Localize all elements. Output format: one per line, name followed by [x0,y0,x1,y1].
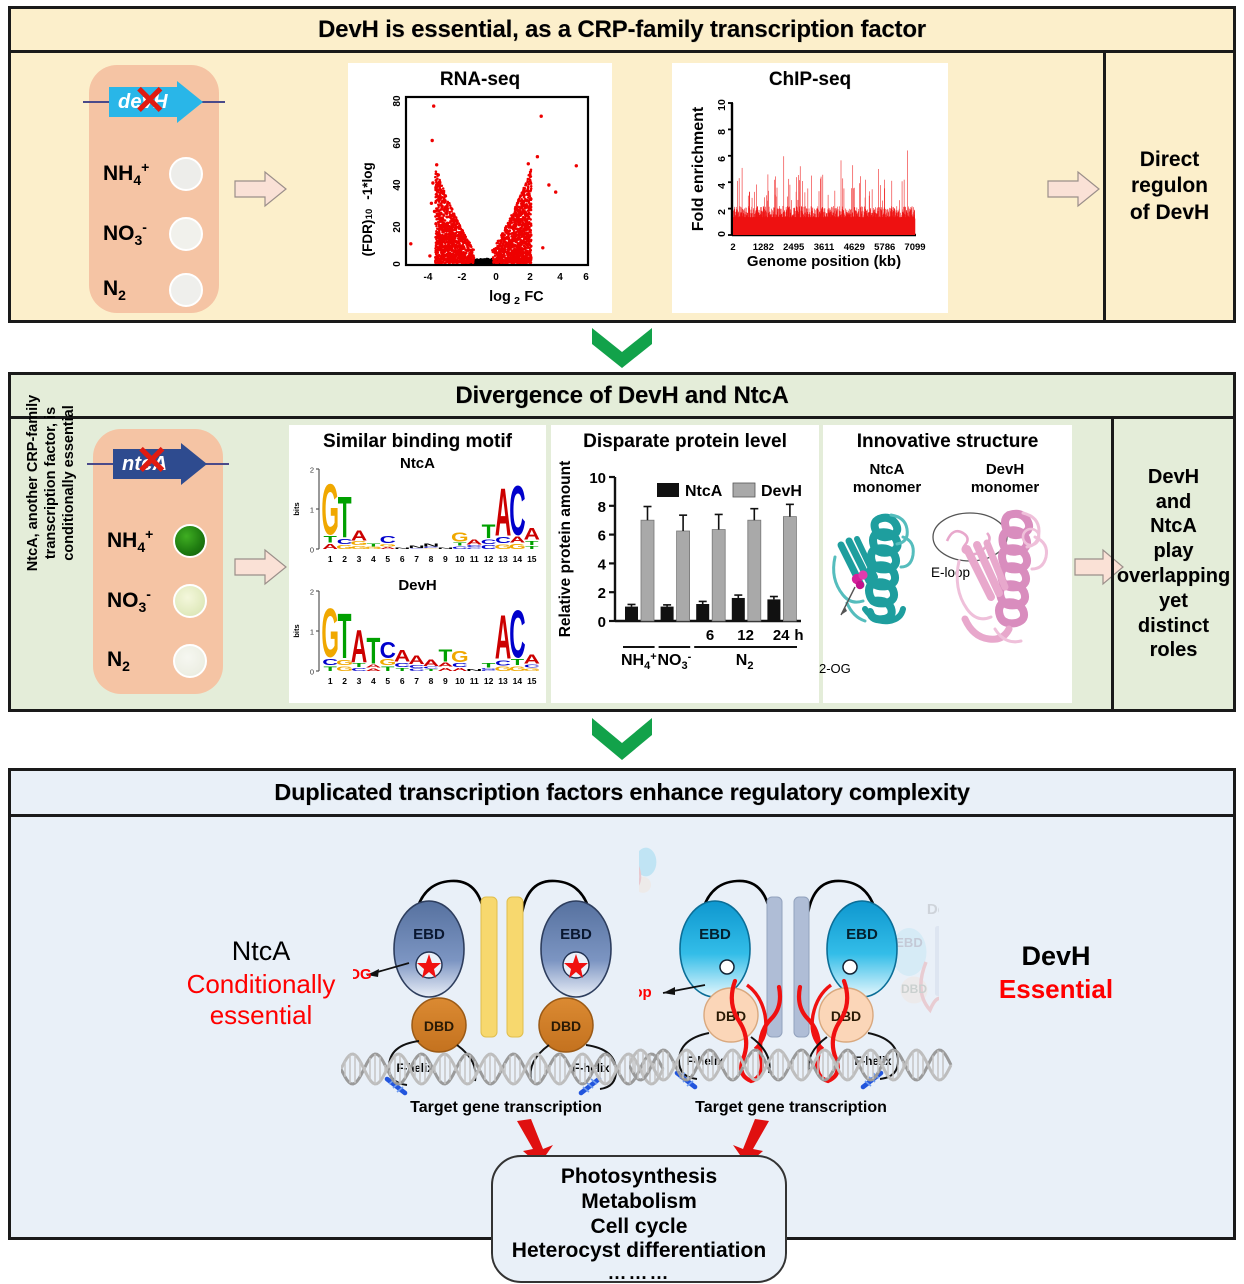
svg-text:2: 2 [342,554,347,564]
svg-text:bits: bits [292,624,301,637]
svg-text:A: A [524,525,540,544]
condition-row-no3: NO3- [107,584,207,618]
svg-text:80: 80 [392,95,403,107]
svg-text:NH4+: NH4+ [621,651,657,672]
svg-text:0: 0 [716,231,728,237]
svg-text:10: 10 [589,470,606,487]
svg-text:T: T [366,542,380,547]
svg-text:1: 1 [310,628,314,637]
svg-text:6: 6 [583,272,589,283]
svg-text:0: 0 [392,261,403,267]
panel-bottom-body: NtcA Conditionally essential DevH Essent… [11,817,1233,1237]
svg-text:12: 12 [484,676,494,686]
sequence-logo-devh: 012bitsTCG1GGT2CTA3AAT4TGC5TCA6CCA7TCA8A… [289,575,546,695]
svg-text:8: 8 [429,554,434,564]
svg-text:2: 2 [730,242,735,253]
card-title-binding-motif: Similar binding motif [289,431,546,453]
svg-text:E-loop: E-loop [639,984,652,1001]
svg-text:log: log [489,289,511,305]
svg-text:2: 2 [310,466,314,475]
svg-text:2: 2 [342,676,347,686]
condition-label-no3: NO3- [107,586,173,615]
svg-text:NtcA: NtcA [685,483,723,500]
condition-row-n2: N2 [103,273,203,307]
svg-text:3611: 3611 [814,242,835,253]
svg-text:6: 6 [400,554,405,564]
svg-text:A: A [524,652,540,667]
svg-text:4: 4 [716,183,728,189]
svg-text:2: 2 [514,295,520,307]
svg-text:10: 10 [455,676,465,686]
page-title: DevH is essential, as a CRP-family trans… [318,16,926,44]
panel-mid-header: Divergence of DevH and NtcA [11,375,1233,419]
svg-text:3: 3 [357,676,362,686]
svg-text:1282: 1282 [753,242,774,253]
colony-spot-nh4 [173,524,207,558]
svg-text:4629: 4629 [844,242,865,253]
svg-text:1: 1 [328,554,333,564]
ligand-label-2og: 2-OG [819,661,851,676]
outcome-item-0: Photosynthesis [561,1165,717,1190]
svg-text:bits: bits [292,502,301,515]
condition-row-no3: NO3- [103,217,203,251]
svg-text:14: 14 [513,554,523,564]
panel-regulatory-complexity: Duplicated transcription factors enhance… [8,768,1236,1240]
svg-text:NO3-: NO3- [658,651,692,672]
flow-arrow-icon-2 [1046,169,1102,209]
svg-text:7099: 7099 [904,242,925,253]
svg-text:9: 9 [443,554,448,564]
svg-text:0: 0 [310,668,314,677]
flow-arrow-icon-1 [233,169,289,209]
svg-text:0: 0 [598,614,606,631]
svg-text:5786: 5786 [874,242,895,253]
svg-text:12: 12 [737,627,754,644]
condition-label-no3: NO3- [103,219,169,248]
devh-status: Essential [951,973,1161,1005]
svg-text:8: 8 [598,499,606,516]
svg-text:7: 7 [414,676,419,686]
svg-text:2495: 2495 [783,242,805,253]
condition-label-n2: N2 [103,277,169,303]
dna-helix-right-icon [629,1039,955,1097]
svg-text:DBD: DBD [901,982,927,996]
svg-text:T: T [482,521,496,542]
condition-label-nh4: NH4+ [107,526,173,555]
card-binding-motif: Similar binding motif NtcA 012bitsATG1GC… [289,425,546,703]
flow-chevron-down-icon-2 [588,716,656,762]
panel-top-header: DevH is essential, as a CRP-family trans… [11,9,1233,53]
ntca-identity-block: NtcA Conditionally essential [161,935,361,1032]
ntca-status: Conditionally essential [161,969,361,1032]
svg-text:10: 10 [364,209,375,220]
colony-spot-no3 [173,584,207,618]
svg-text:14: 14 [513,676,523,686]
colony-spot-n2 [169,273,203,307]
ntca-monomer-structure-icon [825,507,945,667]
svg-text:FC: FC [524,289,544,305]
svg-text:2: 2 [310,588,314,597]
svg-text:(FDR): (FDR) [360,220,375,257]
svg-text:EBD: EBD [846,926,878,943]
condition-label-n2: N2 [107,648,173,674]
devh-monomer-structure-icon [947,501,1071,671]
structure-label-ntca: NtcA monomer [835,461,939,497]
knockout-x-icon: ✕ [135,441,169,481]
mid-title: Divergence of DevH and NtcA [455,382,788,410]
svg-text:2: 2 [716,209,728,215]
svg-text:4: 4 [371,554,376,564]
svg-text:6: 6 [716,156,728,162]
svg-text:2: 2 [527,272,533,283]
card-protein-level: Disparate protein level 0246810Relative … [551,425,819,703]
panel-divergence: Divergence of DevH and NtcA NtcA, anothe… [8,372,1236,712]
condition-row-n2: N2 [107,644,207,678]
card-title-structure: Innovative structure [823,431,1072,453]
ntca-side-note: NtcA, another CRP-family transcription f… [24,363,78,603]
sequence-logo-ntca: 012bitsATG1GCT2GGA3GGT4AGC5N6CN7GCN8N9CT… [289,453,546,573]
svg-text:DevH: DevH [927,901,939,918]
flow-chevron-down-icon-1 [588,326,656,370]
structure-label-devh: DevH monomer [951,461,1059,497]
svg-text:4: 4 [371,676,376,686]
svg-text:0: 0 [310,546,314,555]
mid-conclusion-column: DevH and NtcA play overlapping yet disti… [1111,419,1233,709]
svg-text:6: 6 [706,627,714,644]
rna-seq-volcano-plot: 80 60 40 20 0 -4 -2 0 2 4 6 -1*log [348,63,612,313]
mid-conclusion-text: DevH and NtcA play overlapping yet disti… [1117,465,1230,663]
svg-text:40: 40 [392,179,403,191]
devh-strain-capsule: devH ✕ NH4+ NO3- N2 [89,65,219,313]
svg-text:5: 5 [385,676,390,686]
svg-text:10: 10 [455,554,465,564]
svg-text:11: 11 [470,554,479,564]
svg-text:1: 1 [310,506,314,515]
svg-text:4: 4 [598,556,607,573]
outcome-item-2: Cell cycle [591,1215,688,1240]
ntca-side-note-wrap: NtcA, another CRP-family transcription f… [37,363,65,603]
svg-text:3: 3 [357,554,362,564]
ntca-caption: Target gene transcription [356,1099,656,1117]
svg-text:T: T [338,486,352,551]
card-rna-seq: RNA-seq 80 60 40 20 0 -4 -2 0 [348,63,612,313]
bottom-title: Duplicated transcription factors enhance… [274,779,969,806]
panel-mid-body: NtcA, another CRP-family transcription f… [11,419,1233,709]
panel-top-body: devH ✕ NH4+ NO3- N2 [11,53,1233,320]
svg-text:h: h [794,627,803,644]
svg-text:2-OG: 2-OG [353,966,372,983]
svg-text:EBD: EBD [413,926,445,943]
top-conclusion-column: Direct regulon of DevH [1103,53,1233,320]
outcomes-box: Photosynthesis Metabolism Cell cycle Het… [491,1155,787,1283]
panel-devh-essential: DevH is essential, as a CRP-family trans… [8,6,1236,323]
svg-text:DBD: DBD [424,1018,454,1034]
svg-text:60: 60 [392,137,403,149]
svg-text:4: 4 [557,272,563,283]
svg-text:8: 8 [429,676,434,686]
devh-caption: Target gene transcription [641,1099,941,1117]
ntca-strain-capsule: ntcA ✕ NH4+ NO3- N2 [93,429,223,694]
ntca-name: NtcA [161,935,361,969]
colony-spot-n2 [173,644,207,678]
devh-name: DevH [951,939,1161,973]
dna-helix-left-icon [341,1043,667,1101]
graphical-abstract: DevH is essential, as a CRP-family trans… [0,0,1244,1246]
svg-text:C: C [380,534,397,546]
outcome-item-4: ……… [608,1264,671,1283]
card-structure: Innovative structure NtcA monomer DevH m… [823,425,1072,703]
svg-text:EBD: EBD [560,926,592,943]
svg-text:G: G [451,648,469,666]
colony-spot-no3 [169,217,203,251]
top-conclusion-text: Direct regulon of DevH [1130,147,1209,225]
condition-label-nh4: NH4+ [103,159,169,188]
chip-seq-track-plot: 10 8 6 4 2 0 Fold enrichment 21282249536… [672,63,948,313]
svg-text:8: 8 [716,129,728,135]
colony-spot-nh4 [169,157,203,191]
condition-row-nh4: NH4+ [107,524,207,558]
svg-text:6: 6 [400,676,405,686]
svg-text:Relative protein amount: Relative protein amount [557,461,574,638]
svg-text:EBD: EBD [895,935,922,950]
svg-text:15: 15 [527,554,537,564]
svg-text:11: 11 [470,676,479,686]
outcome-item-1: Metabolism [581,1190,697,1215]
svg-text:Fold enrichment: Fold enrichment [690,106,707,231]
svg-text:A: A [351,528,368,544]
svg-text:T: T [338,601,352,673]
svg-text:DevH: DevH [761,483,802,500]
svg-text:12: 12 [484,554,494,564]
svg-text:13: 13 [498,554,508,564]
svg-text:-1*log: -1*log [360,162,375,200]
svg-text:EBD: EBD [699,926,731,943]
svg-text:0: 0 [493,272,499,283]
outcome-item-3: Heterocyst differentiation [512,1239,766,1264]
svg-text:-2: -2 [458,272,467,283]
card-chip-seq: ChIP-seq 10 8 6 4 2 0 Fold enrichment [672,63,948,313]
svg-text:2: 2 [598,585,606,602]
protein-level-bar-chart: 0246810Relative protein amountNtcADevH61… [551,425,819,703]
condition-row-nh4: NH4+ [103,157,203,191]
svg-text:6: 6 [598,528,606,545]
svg-text:20: 20 [392,221,403,233]
flow-arrow-icon-3 [233,547,289,587]
svg-text:-4: -4 [424,272,433,283]
svg-text:T: T [482,662,496,669]
devh-gene-diagram: devH ✕ [81,79,229,125]
svg-text:Genome position (kb): Genome position (kb) [747,253,901,270]
svg-text:N2: N2 [736,652,754,672]
knockout-x-icon: ✕ [133,81,167,121]
ntca-gene-diagram: ntcA ✕ [85,441,233,487]
svg-text:DBD: DBD [551,1018,581,1034]
svg-text:13: 13 [498,676,508,686]
svg-text:5: 5 [385,554,390,564]
devh-identity-block: DevH Essential [951,939,1161,1005]
svg-text:9: 9 [443,676,448,686]
svg-text:15: 15 [527,676,537,686]
svg-text:7: 7 [414,554,419,564]
svg-text:10: 10 [716,99,728,111]
svg-text:24: 24 [773,627,790,644]
panel-bottom-header: Duplicated transcription factors enhance… [11,771,1233,817]
svg-text:1: 1 [328,676,333,686]
